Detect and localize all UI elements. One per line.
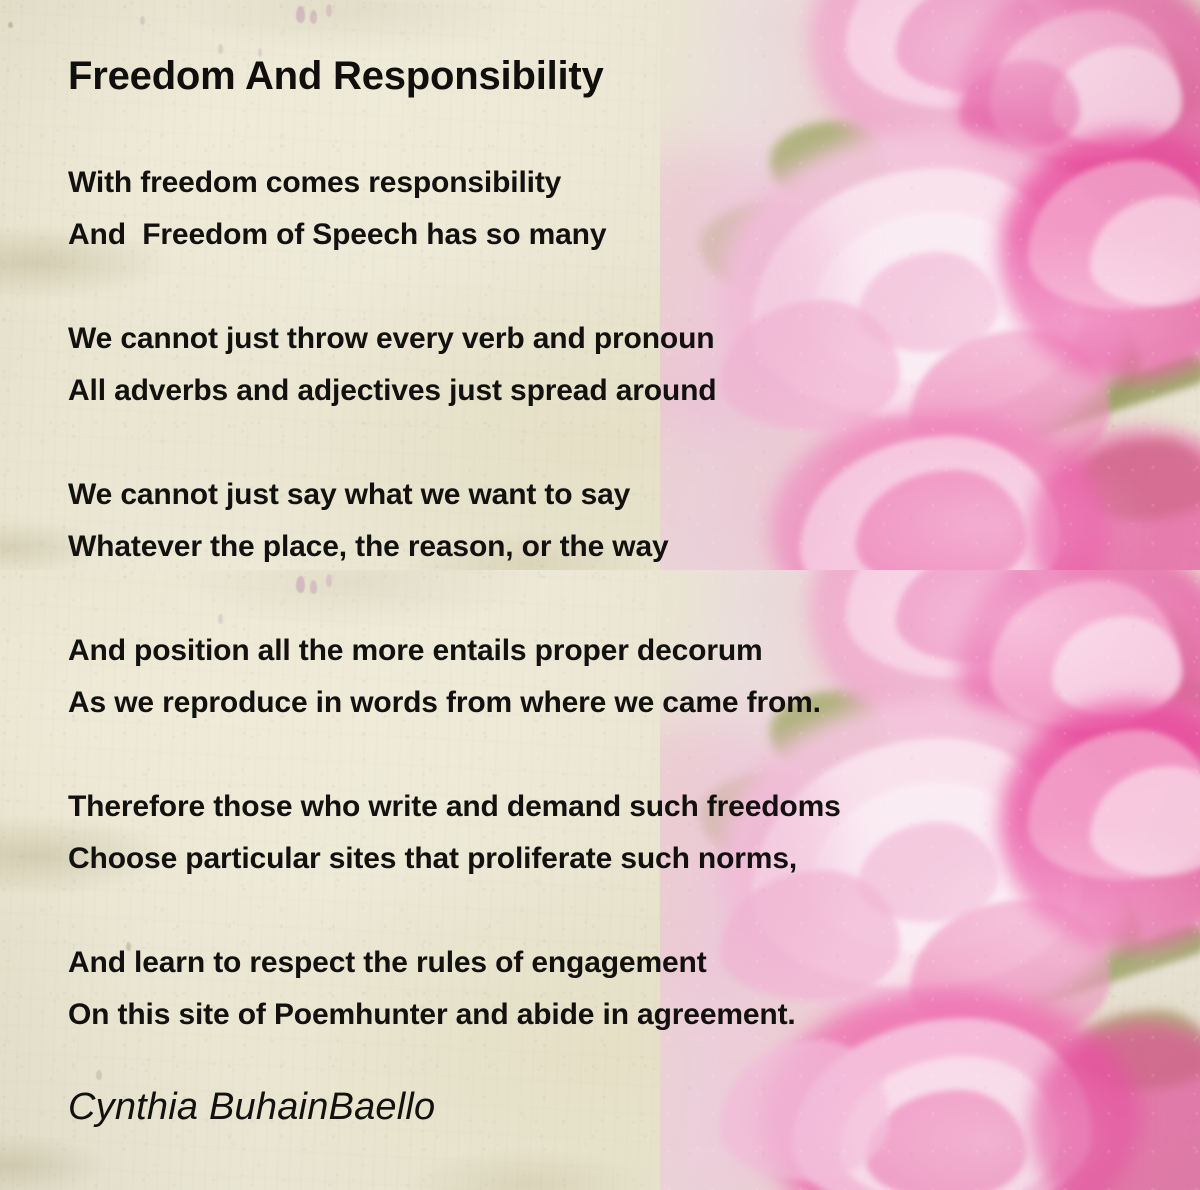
poem-line: All adverbs and adjectives just spread a… — [68, 365, 1048, 417]
poem-stanza: We cannot just throw every verb and pron… — [68, 313, 1048, 417]
poem-stanza: And learn to respect the rules of engage… — [68, 937, 1048, 1041]
poem-line: With freedom comes responsibility — [68, 157, 1048, 209]
poem-stanza: And position all the more entails proper… — [68, 625, 1048, 729]
poem-author: Cynthia BuhainBaello — [68, 1086, 435, 1129]
poem-line: As we reproduce in words from where we c… — [68, 677, 1048, 729]
poem-line: Therefore those who write and demand suc… — [68, 781, 1048, 833]
page-title: Freedom And Responsibility — [68, 54, 604, 99]
poem-line: And Freedom of Speech has so many — [68, 209, 1048, 261]
poem-stanza: With freedom comes responsibility And Fr… — [68, 157, 1048, 261]
poem-line: We cannot just throw every verb and pron… — [68, 313, 1048, 365]
poem-line: And position all the more entails proper… — [68, 625, 1048, 677]
poem-body: With freedom comes responsibility And Fr… — [68, 157, 1048, 1041]
poem-line: We cannot just say what we want to say — [68, 469, 1048, 521]
poem-stanza: Therefore those who write and demand suc… — [68, 781, 1048, 885]
poem-line: And learn to respect the rules of engage… — [68, 937, 1048, 989]
poem-card: Freedom And Responsibility With freedom … — [0, 0, 1200, 1190]
poem-line: On this site of Poemhunter and abide in … — [68, 989, 1048, 1041]
poem-stanza: We cannot just say what we want to say W… — [68, 469, 1048, 573]
poem-line: Whatever the place, the reason, or the w… — [68, 521, 1048, 573]
poem-text-layer: Freedom And Responsibility With freedom … — [0, 0, 1200, 1190]
poem-line: Choose particular sites that proliferate… — [68, 833, 1048, 885]
